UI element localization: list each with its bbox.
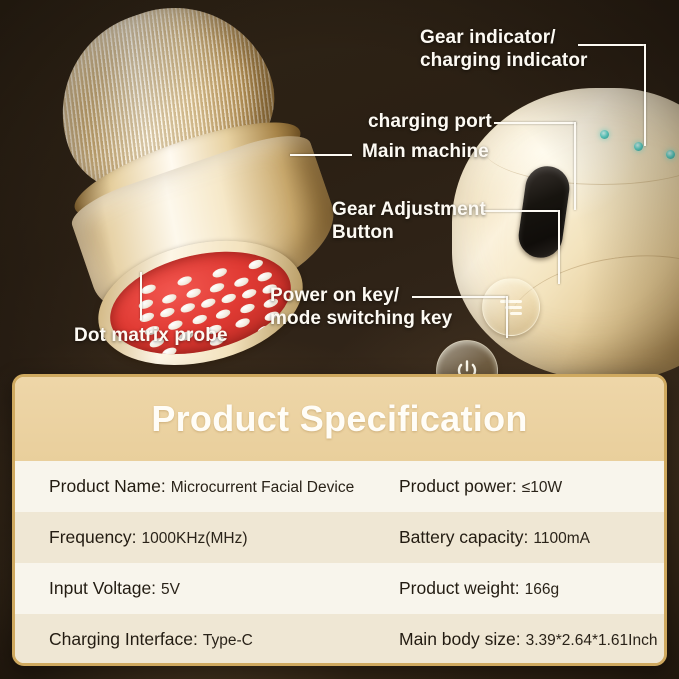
callout-gear-indicator: Gear indicator/ charging indicator <box>420 26 588 72</box>
table-row: Product Name:Microcurrent Facial DeviceP… <box>15 461 664 512</box>
leader-dot-matrix-v <box>140 272 142 320</box>
spec-label: Product Name: <box>49 476 166 497</box>
product-infographic: Gear indicator/ charging indicator charg… <box>0 0 679 679</box>
spec-label: Battery capacity: <box>399 527 528 548</box>
specification-table: Product Name:Microcurrent Facial DeviceP… <box>15 461 664 665</box>
leader-charging-port-v <box>574 122 576 210</box>
spec-label: Frequency: <box>49 527 137 548</box>
spec-cell-right: Battery capacity:1100mA <box>399 527 664 548</box>
spec-value: 1000KHz(MHz) <box>142 530 248 548</box>
spec-cell-left: Product Name:Microcurrent Facial Device <box>49 476 399 497</box>
spec-value: 166g <box>525 581 559 599</box>
spec-value: 1100mA <box>533 530 590 548</box>
product-specification-card: Product Specification Product Name:Micro… <box>12 374 667 666</box>
spec-label: Main body size: <box>399 629 521 650</box>
table-row: Input Voltage:5VProduct weight:166g <box>15 563 664 614</box>
callout-main-machine: Main machine <box>362 140 489 163</box>
spec-cell-left: Charging Interface:Type-C <box>49 629 399 650</box>
spec-label: Input Voltage: <box>49 578 156 599</box>
leader-gear-indicator-v <box>644 44 646 146</box>
spec-cell-right: Product power:≤10W <box>399 476 664 497</box>
table-row: Charging Interface:Type-CMain body size:… <box>15 614 664 665</box>
spec-header: Product Specification <box>15 377 664 461</box>
spec-cell-left: Frequency:1000KHz(MHz) <box>49 527 399 548</box>
callout-dot-matrix-probe: Dot matrix probe <box>74 324 228 347</box>
callout-gear-adjustment-button: Gear Adjustment Button <box>332 198 486 244</box>
leader-charging-port-h <box>494 122 576 124</box>
spec-value: 5V <box>161 581 180 599</box>
leader-power-key-v <box>506 296 508 338</box>
leader-gear-adjustment-h <box>482 210 560 212</box>
callout-charging-port: charging port <box>368 110 492 133</box>
spec-label: Product power: <box>399 476 517 497</box>
spec-cell-left: Input Voltage:5V <box>49 578 399 599</box>
spec-value: ≤10W <box>522 479 562 497</box>
spec-cell-right: Product weight:166g <box>399 578 664 599</box>
spec-value: 3.39*2.64*1.61Inch <box>526 632 658 650</box>
leader-main-machine-h <box>290 154 352 156</box>
spec-label: Charging Interface: <box>49 629 198 650</box>
spec-cell-right: Main body size:3.39*2.64*1.61Inch <box>399 629 664 650</box>
page-title: Product Specification <box>151 398 527 440</box>
table-row: Frequency:1000KHz(MHz)Battery capacity:1… <box>15 512 664 563</box>
spec-value: Type-C <box>203 632 253 650</box>
spec-label: Product weight: <box>399 578 520 599</box>
leader-gear-indicator-h <box>578 44 646 46</box>
callout-power-key: Power on key/ mode switching key <box>270 284 452 330</box>
spec-value: Microcurrent Facial Device <box>171 479 354 497</box>
leader-gear-adjustment-v <box>558 210 560 284</box>
